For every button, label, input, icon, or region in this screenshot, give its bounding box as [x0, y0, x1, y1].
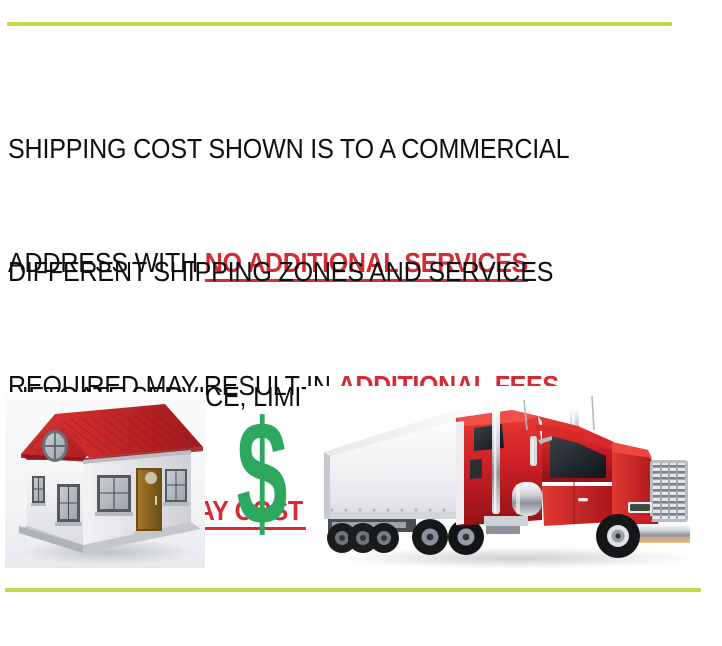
bottom-divider-rule — [5, 588, 701, 592]
notice-text-plain: SHIPPING COST SHOWN IS TO A COMMERCIAL — [8, 133, 569, 164]
notice-line-1: DIFFERENT SHIPPING ZONES AND SERVICES — [8, 253, 635, 291]
semi-truck-illustration — [306, 386, 692, 572]
top-divider-rule — [7, 22, 672, 26]
house-illustration — [5, 392, 205, 568]
shipping-notice-page: SHIPPING COST SHOWN IS TO A COMMERCIAL A… — [0, 0, 722, 646]
dollar-sign-glyph: $ — [233, 404, 290, 544]
notice-line-1: SHIPPING COST SHOWN IS TO A COMMERCIAL — [8, 130, 635, 168]
illustration-row: $ — [0, 386, 722, 572]
notice-text-plain: DIFFERENT SHIPPING ZONES AND SERVICES — [8, 256, 553, 287]
